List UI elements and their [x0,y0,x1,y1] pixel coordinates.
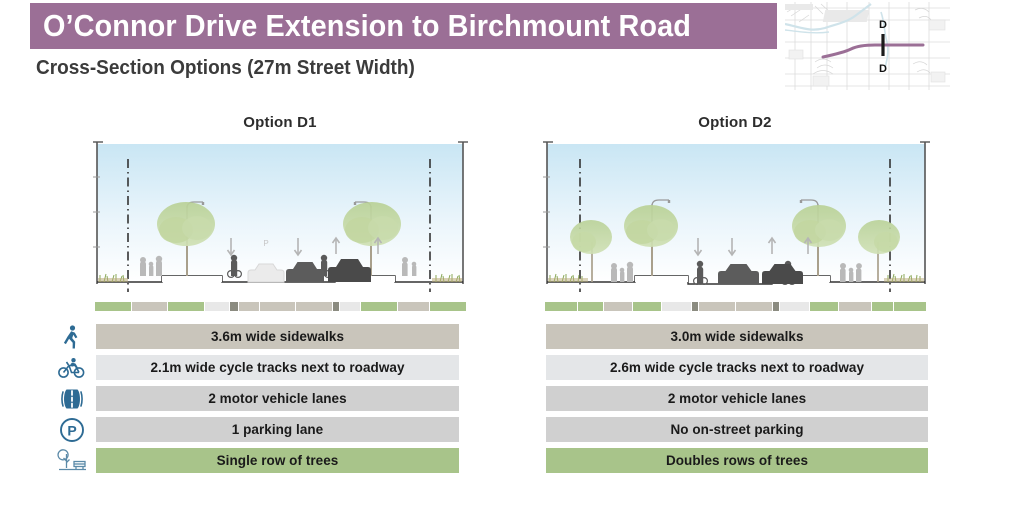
option-column-d1: Option D1 [55,112,475,479]
key-map-graphic: D D [785,2,950,90]
pedestrian-icon [55,321,89,352]
strip-segment [773,302,779,311]
feature-label: Single row of trees [96,448,459,473]
parking-marker: P [263,239,268,248]
header-bar: O’Connor Drive Extension to Birchmount R… [30,3,777,49]
tree-bench-icon [55,445,89,476]
feature-label: 3.6m wide sidewalks [96,324,459,349]
cross-section-d2 [540,134,932,294]
dimension-strip-d2 [545,302,927,311]
feature-label: No on-street parking [546,417,928,442]
parking-icon: P [55,414,89,445]
strip-segment [699,302,735,311]
bicycle-icon [55,352,89,383]
feature-label: 2 motor vehicle lanes [96,386,459,411]
strip-segment [398,302,430,311]
dimension-strip-d1 [95,302,467,311]
svg-text:P: P [67,422,76,438]
strip-segment [168,302,204,311]
feature-row-vehicle-lanes: 2 motor vehicle lanes [510,386,930,411]
strip-segment [839,302,871,311]
strip-segment [430,302,466,311]
strip-segment [296,302,332,311]
page-subtitle: Cross-Section Options (27m Street Width) [36,57,415,80]
cross-section-d1: P [90,134,470,294]
feature-row-parking: No on-street parking [510,417,930,442]
strip-segment [340,302,360,311]
option-column-d2: Option D2 [510,112,930,479]
strip-segment [95,302,131,311]
strip-segment [604,302,632,311]
strip-segment [633,302,661,311]
strip-segment [736,302,772,311]
key-map-inset: D D [785,2,950,90]
strip-segment [780,302,808,311]
strip-segment [239,302,259,311]
feature-rows-d2: 3.0m wide sidewalks 2.6m wide cycle trac… [510,324,930,473]
feature-row-cycle-tracks: 2.1m wide cycle tracks next to roadway [55,355,475,380]
feature-label: 3.0m wide sidewalks [546,324,928,349]
strip-segment [205,302,229,311]
feature-row-parking: P 1 parking lane [55,417,475,442]
strip-segment [333,302,339,311]
option-d2-title: Option D2 [540,112,930,134]
feature-row-sidewalks: 3.6m wide sidewalks [55,324,475,349]
strip-segment [662,302,690,311]
section-label-top: D [879,19,887,31]
feature-label: 1 parking lane [96,417,459,442]
feature-row-vehicle-lanes: 2 motor vehicle lanes [55,386,475,411]
feature-row-cycle-tracks: 2.6m wide cycle tracks next to roadway [510,355,930,380]
feature-row-trees: Doubles rows of trees [510,448,930,473]
feature-rows-d1: 3.6m wide sidewalks 2.1m wide cycle trac… [55,324,475,473]
cross-section-d1-graphic: P [90,134,470,294]
roadway-lanes-icon [55,383,89,414]
strip-segment [545,302,577,311]
strip-segment [894,302,926,311]
section-label-bottom: D [879,63,887,75]
feature-label: 2 motor vehicle lanes [546,386,928,411]
cross-section-d2-graphic [540,134,932,294]
feature-label: Doubles rows of trees [546,448,928,473]
strip-segment [578,302,602,311]
feature-label: 2.6m wide cycle tracks next to roadway [546,355,928,380]
strip-segment [260,302,296,311]
feature-label: 2.1m wide cycle tracks next to roadway [96,355,459,380]
page-title: O’Connor Drive Extension to Birchmount R… [30,8,691,44]
option-d1-title: Option D1 [90,112,470,134]
strip-segment [361,302,397,311]
feature-row-sidewalks: 3.0m wide sidewalks [510,324,930,349]
strip-segment [810,302,838,311]
strip-segment [132,302,168,311]
strip-segment [692,302,698,311]
feature-row-trees: Single row of trees [55,448,475,473]
strip-segment [230,302,238,311]
strip-segment [872,302,892,311]
